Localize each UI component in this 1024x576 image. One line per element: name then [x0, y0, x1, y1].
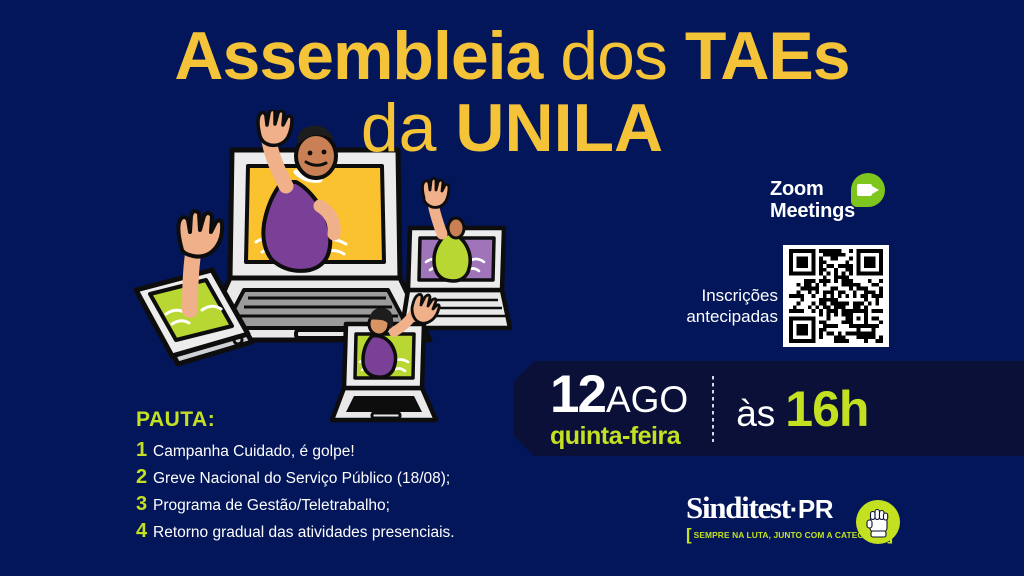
poster-canvas: Assembleia dos TAEs da UNILA Zoom Meetin…: [0, 0, 1024, 576]
fist-glyph: [856, 500, 900, 544]
agenda-item-text: Programa de Gestão/Teletrabalho;: [153, 497, 390, 515]
banner-divider: [712, 376, 714, 442]
zoom-label-line-1: Zoom: [770, 178, 855, 200]
agenda-item-number: 2: [136, 466, 153, 489]
agenda-item: 3Programa de Gestão/Teletrabalho;: [136, 493, 455, 516]
title-word-unila: UNILA: [455, 90, 663, 166]
title-word-dos: dos: [560, 18, 667, 94]
date-time-banner: 12 AGO quinta-feira às 16h: [514, 361, 1024, 456]
date-day: 12: [550, 368, 605, 421]
agenda-item: 1Campanha Cuidado, é golpe!: [136, 439, 455, 462]
title-word-taes: TAEs: [685, 18, 850, 94]
registration-line-1: Inscrições: [680, 285, 778, 306]
date-weekday: quinta-feira: [550, 424, 688, 449]
agenda-list: 1Campanha Cuidado, é golpe!2Greve Nacion…: [136, 439, 455, 543]
agenda-item: 2Greve Nacional do Serviço Público (18/0…: [136, 466, 455, 489]
date-day-month: 12 AGO: [550, 368, 688, 421]
agenda-item-number: 3: [136, 493, 153, 516]
time-prefix: às: [736, 393, 775, 435]
logo-name-text: Sinditest: [686, 490, 790, 525]
zoom-label-line-2: Meetings: [770, 200, 855, 222]
agenda-heading: PAUTA:: [136, 408, 455, 432]
agenda-item-number: 1: [136, 439, 153, 462]
time-group: às 16h: [736, 380, 868, 438]
date-month: AGO: [606, 381, 688, 418]
zoom-meetings-block: Zoom Meetings: [770, 178, 855, 223]
qr-code[interactable]: [783, 245, 889, 347]
raised-fist-icon: [856, 500, 900, 544]
qr-code-image: [787, 249, 885, 343]
logo-state: PR: [798, 494, 833, 524]
time-value: 16h: [785, 380, 868, 438]
agenda-block: PAUTA: 1Campanha Cuidado, é golpe!2Greve…: [136, 408, 455, 547]
logo-separator: ·: [790, 494, 798, 524]
agenda-item-text: Greve Nacional do Serviço Público (18/08…: [153, 470, 450, 488]
agenda-item-text: Retorno gradual das atividades presencia…: [153, 524, 455, 542]
agenda-item-text: Campanha Cuidado, é golpe!: [153, 443, 355, 461]
registration-line-2: antecipadas: [680, 306, 778, 327]
agenda-item-number: 4: [136, 520, 153, 543]
title-word-assembleia: Assembleia: [174, 18, 542, 94]
title-line-1: Assembleia dos TAEs: [0, 22, 1024, 90]
camera-glyph: [857, 184, 872, 196]
registration-note: Inscrições antecipadas: [680, 285, 778, 328]
video-camera-bubble-icon: [851, 173, 885, 207]
title-word-da: da: [361, 90, 437, 166]
agenda-item: 4Retorno gradual das atividades presenci…: [136, 520, 455, 543]
poster-title: Assembleia dos TAEs da UNILA: [0, 22, 1024, 162]
title-line-2: da UNILA: [0, 94, 1024, 162]
date-group: 12 AGO quinta-feira: [514, 368, 688, 449]
